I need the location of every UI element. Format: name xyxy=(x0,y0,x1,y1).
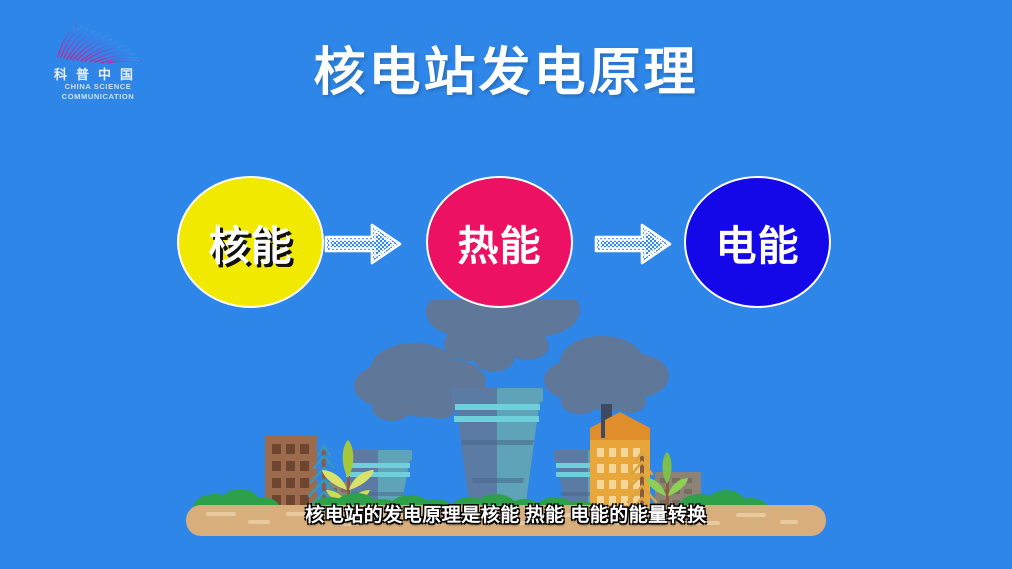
arrow-right-icon-2 xyxy=(592,220,674,268)
slide-canvas: 科普中国 CHINA SCIENCE COMMUNICATION 核电站发电原理 xyxy=(0,0,1012,569)
flow-node-nuclear[interactable]: 核能 xyxy=(177,176,324,308)
subtitle-caption: 核电站的发电原理是核能 热能 电能的能量转换 xyxy=(0,500,1012,527)
arrow-right-icon-1 xyxy=(322,220,404,268)
energy-conversion-flow: 核能 热能 xyxy=(0,176,1012,326)
page-title: 核电站发电原理 xyxy=(0,30,1012,105)
flow-node-electric-label: 电能 xyxy=(716,212,800,272)
flow-node-thermal-label: 热能 xyxy=(458,212,542,272)
cooling-tower-center-icon xyxy=(452,388,543,510)
flow-node-nuclear-label: 核能 xyxy=(209,212,293,272)
flow-node-thermal[interactable]: 热能 xyxy=(426,176,573,308)
flow-node-electric[interactable]: 电能 xyxy=(684,176,831,308)
power-plant-illustration xyxy=(0,300,1012,569)
